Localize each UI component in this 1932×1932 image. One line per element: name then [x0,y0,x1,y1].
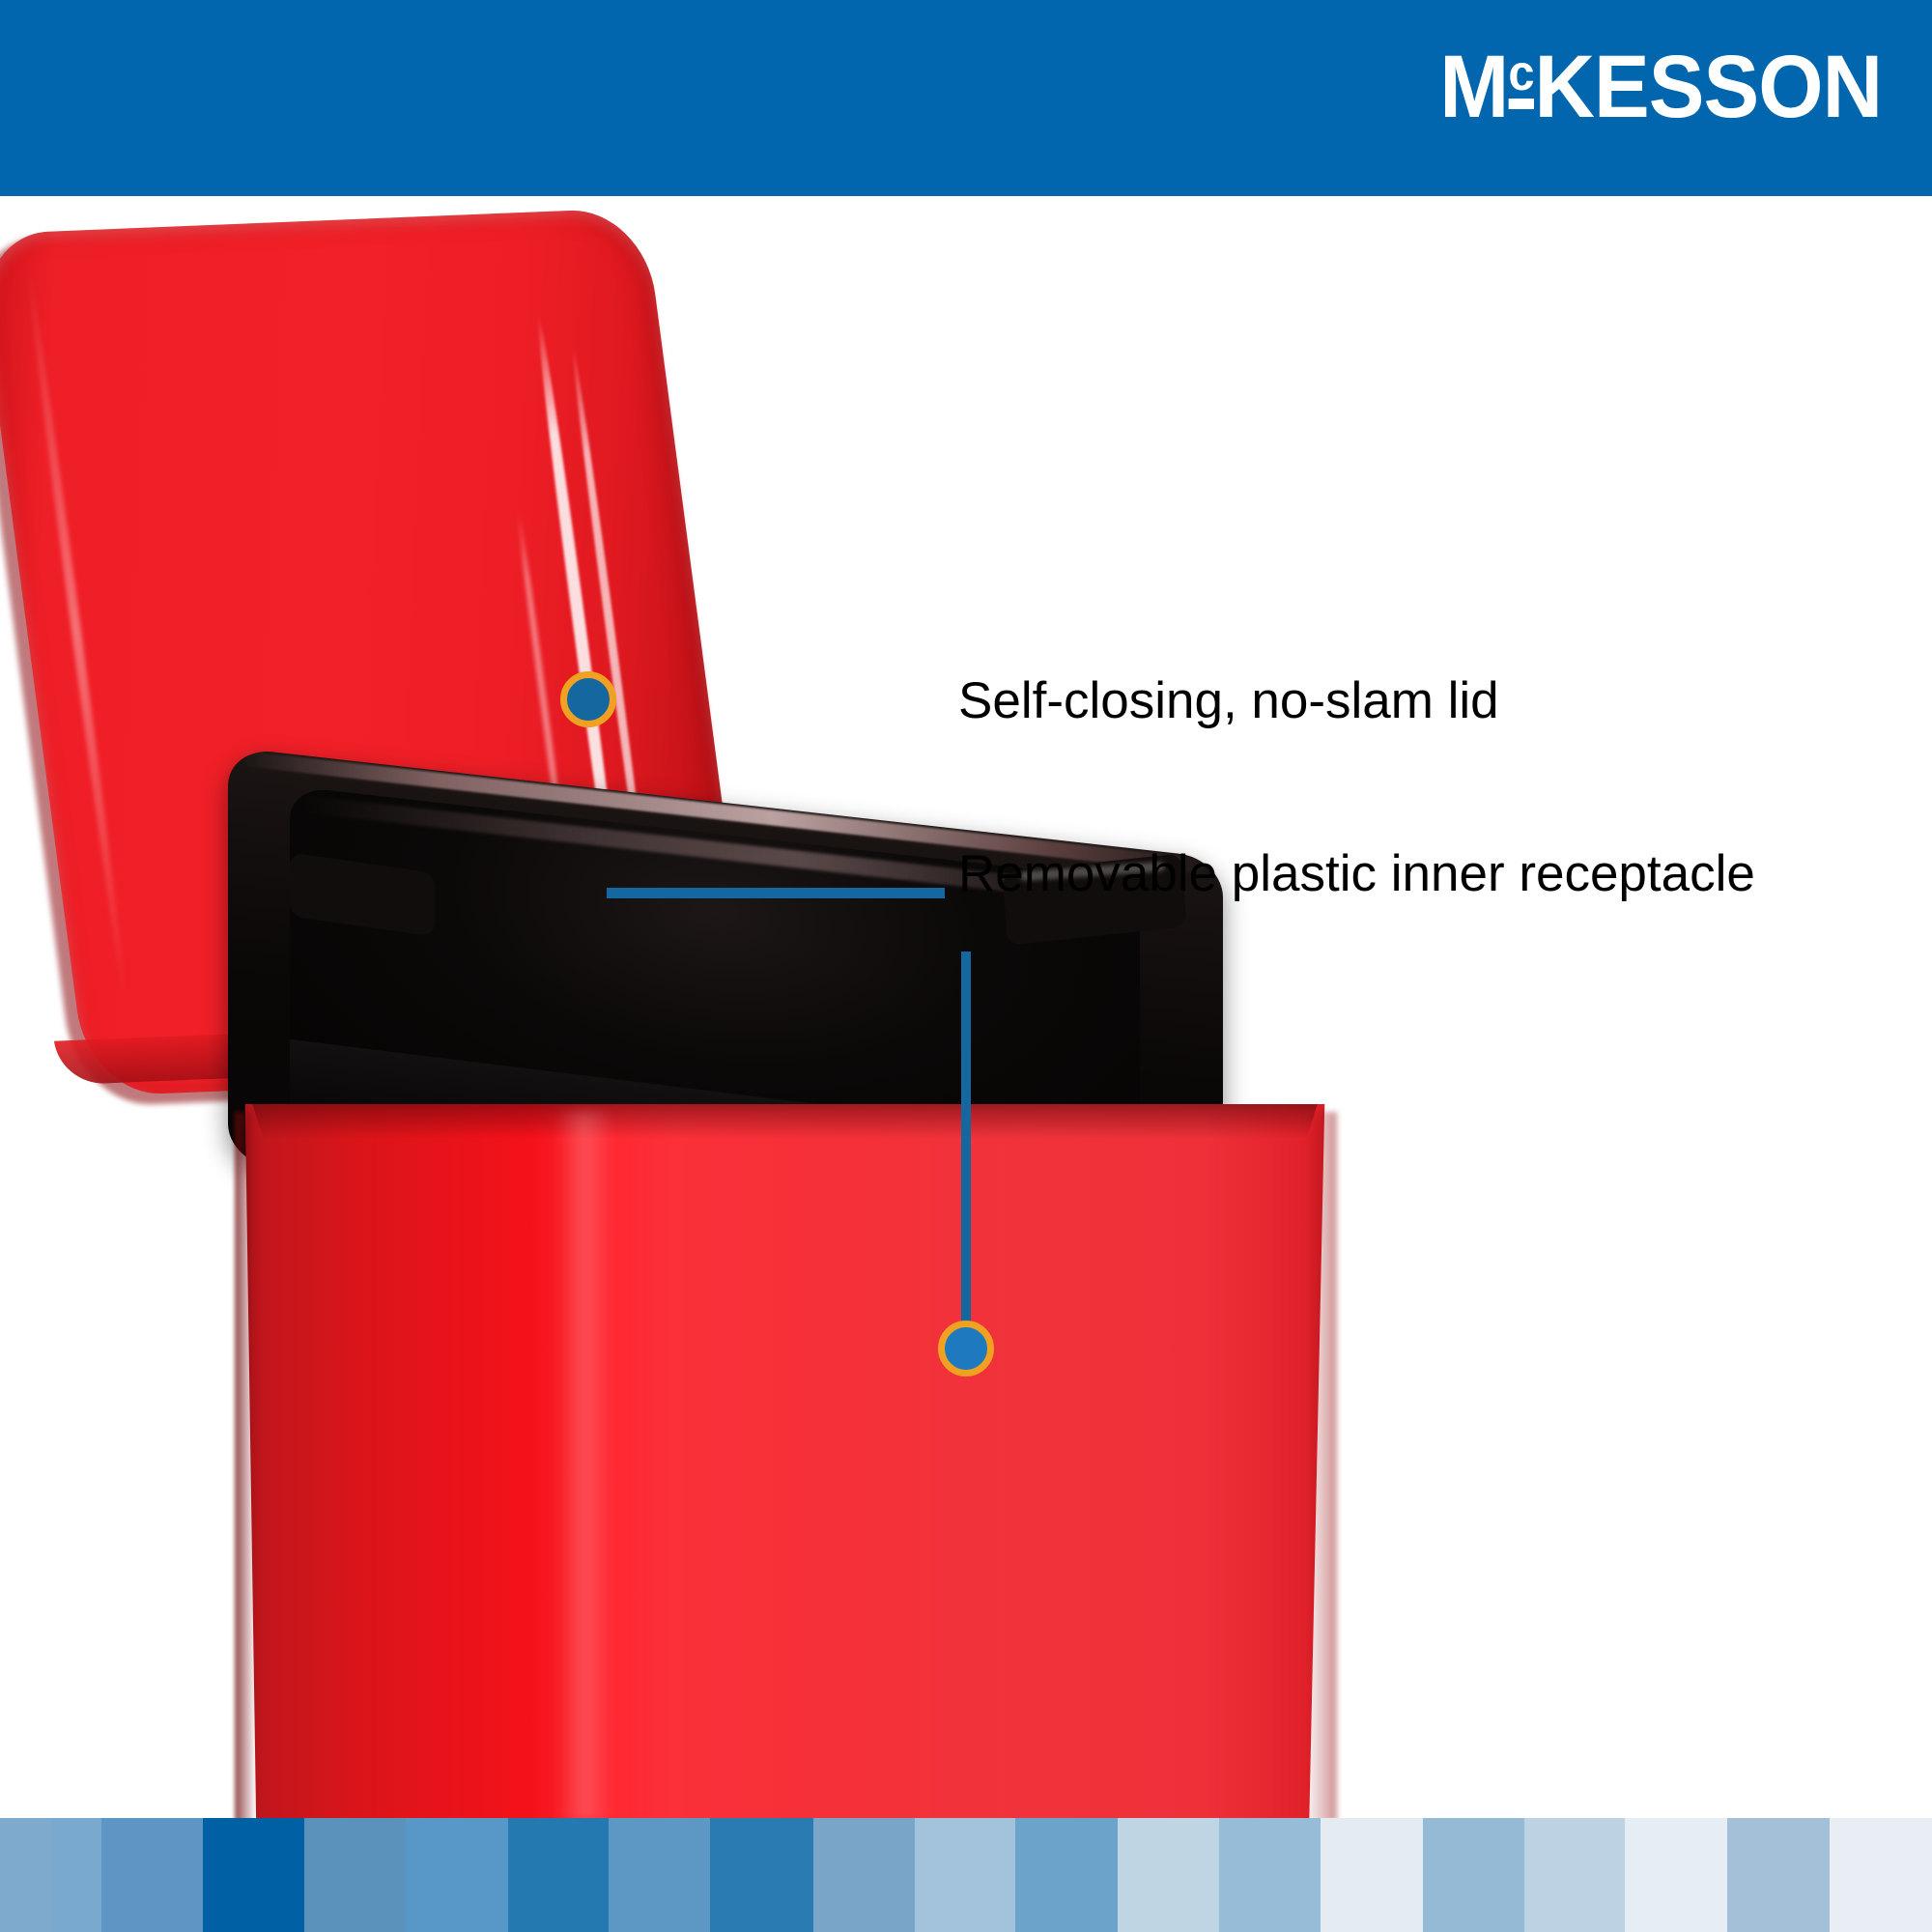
callout-label-self-closing-lid: Self-closing, no-slam lid [958,673,1499,729]
logo-superscript-c: c [1508,48,1533,99]
color-strip-band [406,1818,508,1932]
color-strip-band [1830,1818,1932,1932]
color-strip-band [1118,1818,1219,1932]
logo-prefix: M [1439,38,1508,136]
callout-label-removable-receptacle: Removable plastic inner receptacle [958,846,1755,902]
color-strip-band [1423,1818,1524,1932]
logo-suffix: KESSON [1534,38,1882,136]
brand-color-strip [0,1818,1932,1932]
color-strip-band [101,1818,203,1932]
callout-dot-2 [938,1321,994,1377]
color-strip-band [304,1818,406,1932]
callout-leader-line-2 [961,952,971,1338]
callout-leader-line-1 [607,888,945,898]
color-strip-band [1219,1818,1320,1932]
color-strip-band [813,1818,915,1932]
infographic-canvas: Self-closing, no-slam lid Removable plas… [0,0,1932,1932]
color-strip-band [51,1818,101,1932]
callout-dot-1 [560,671,616,727]
color-strip-band [1625,1818,1727,1932]
color-strip-band [203,1818,303,1932]
color-strip-band [1524,1818,1625,1932]
mckesson-logo: McKESSON [1439,43,1882,131]
color-strip-band [710,1818,812,1932]
brand-header-bar: McKESSON [0,0,1932,196]
callout-layer: Self-closing, no-slam lid Removable plas… [0,196,1932,1829]
color-strip-band [915,1818,1015,1932]
color-strip-band [609,1818,710,1932]
color-strip-band [1015,1818,1118,1932]
color-strip-band [508,1818,609,1932]
color-strip-band [1321,1818,1423,1932]
color-strip-band [0,1818,51,1932]
color-strip-band [1727,1818,1829,1932]
